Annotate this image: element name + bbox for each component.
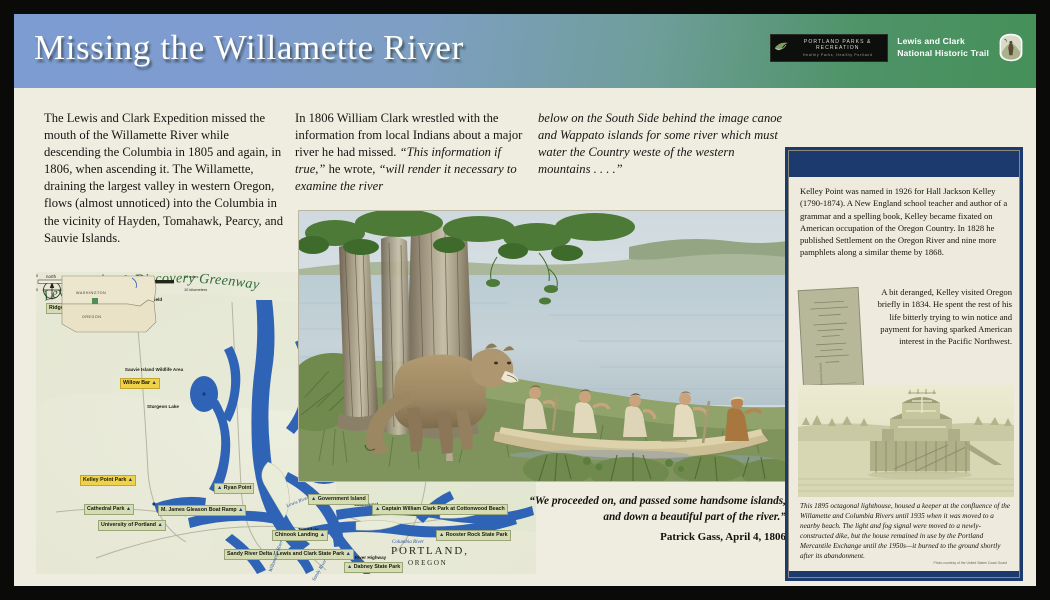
leaf-icon (774, 39, 790, 55)
photo-credit: Photo courtesy of the United States Coas… (933, 561, 1007, 565)
map-label-dabney-state-park: ▲ Dabney State Park (344, 562, 403, 573)
map-label-willow-bar: Willow Bar ▲ (120, 378, 160, 389)
map-label-cathedral-park: Cathedral Park ▲ (84, 504, 134, 515)
sign-header: Missing the Willamette River PORTLAND PA… (14, 14, 1036, 88)
map-label-government-island: ▲ Government Island (308, 494, 369, 505)
sidebar-paragraph-1: Kelley Point was named in 1926 for Hall … (800, 185, 1011, 259)
map-label-captain-clark-park: ▲ Captain William Clark Park at Cottonwo… (372, 504, 508, 515)
map-place-sauvie: Sauvie Island Wildlife Area (124, 367, 184, 373)
map-label-gleason-boat-ramp: M. James Gleason Boat Ramp ▲ (158, 505, 246, 516)
intro-column-1: The Lewis and Clark Expedition missed th… (44, 110, 287, 247)
lighthouse-caption: This 1895 octagonal lighthouse, housed a… (800, 501, 1012, 562)
nps-arrowhead-icon (998, 33, 1024, 62)
map-city-portland: PORTLAND, (391, 545, 469, 557)
gass-quote-text: “We proceeded on, and passed some handso… (514, 494, 786, 525)
map-label-ryan-point: ▲ Ryan Point (214, 483, 254, 494)
map-label-kelley-point-park: Kelley Point Park ▲ (80, 475, 136, 486)
interpretive-sign: Missing the Willamette River PORTLAND PA… (0, 0, 1050, 600)
intro-column-2: In 1806 William Clark wrestled with the … (295, 110, 531, 195)
intro-column-3: below on the South Side behind the image… (538, 110, 788, 178)
page-title: Missing the Willamette River (34, 28, 464, 68)
svg-text:10 miles: 10 miles (184, 274, 199, 279)
ppr-logo-line1: PORTLAND PARKS & RECREATION (774, 39, 887, 51)
sidebar-paragraph-2-wrap: Oregon Historical Society A bit deranged… (800, 286, 1012, 395)
kelley-point-sidebar: Kelley Point was named in 1926 for Hall … (785, 147, 1023, 581)
map-label-rooster-rock: ▲ Rooster Rock State Park (436, 530, 511, 541)
map-river-columbia: Columbia River (392, 540, 424, 545)
illustration-graphics (299, 211, 787, 481)
map-label-sandy-river-delta: Sandy River Delta / Lewis and Clark Stat… (224, 549, 354, 560)
trail-logo-line2: National Historic Trail (897, 48, 989, 60)
sign-plate: Missing the Willamette River PORTLAND PA… (14, 14, 1036, 586)
gass-quote-block: “We proceeded on, and passed some handso… (514, 494, 786, 543)
cougar-and-canoe-illustration (298, 210, 788, 482)
intro-col2-mid: he wrote, (325, 162, 378, 176)
pamphlet-title-page-image: Oregon Historical Society (797, 286, 865, 394)
state-inset-map: WASHINGTON OREGON (36, 272, 174, 340)
sidebar-inner: Kelley Point was named in 1926 for Hall … (788, 150, 1020, 578)
logo-group: PORTLAND PARKS & RECREATION Healthy Park… (770, 33, 1024, 62)
lighthouse-photo-graphics (798, 385, 1014, 497)
map-place-sturgeon: Sturgeon Lake (146, 404, 180, 410)
ppr-logo-line2: Healthy Parks, Healthy Portland (774, 53, 887, 57)
portland-parks-logo: PORTLAND PARKS & RECREATION Healthy Park… (770, 34, 888, 62)
svg-text:WASHINGTON: WASHINGTON (76, 291, 106, 295)
sidebar-bottom-bar (789, 571, 1019, 577)
gass-quote-attribution: Patrick Gass, April 4, 1806 (514, 531, 786, 543)
trail-logo-line1: Lewis and Clark (897, 36, 989, 48)
svg-text:10 kilometers: 10 kilometers (184, 287, 207, 292)
trail-logo-text: Lewis and Clark National Historic Trail (897, 36, 989, 59)
map-city-portland-state: OREGON (408, 559, 447, 567)
map-label-university-of-portland: University of Portland ▲ (98, 520, 166, 531)
sidebar-top-bar (789, 151, 1019, 177)
svg-text:OREGON: OREGON (82, 315, 101, 319)
lighthouse-photo (798, 385, 1014, 497)
